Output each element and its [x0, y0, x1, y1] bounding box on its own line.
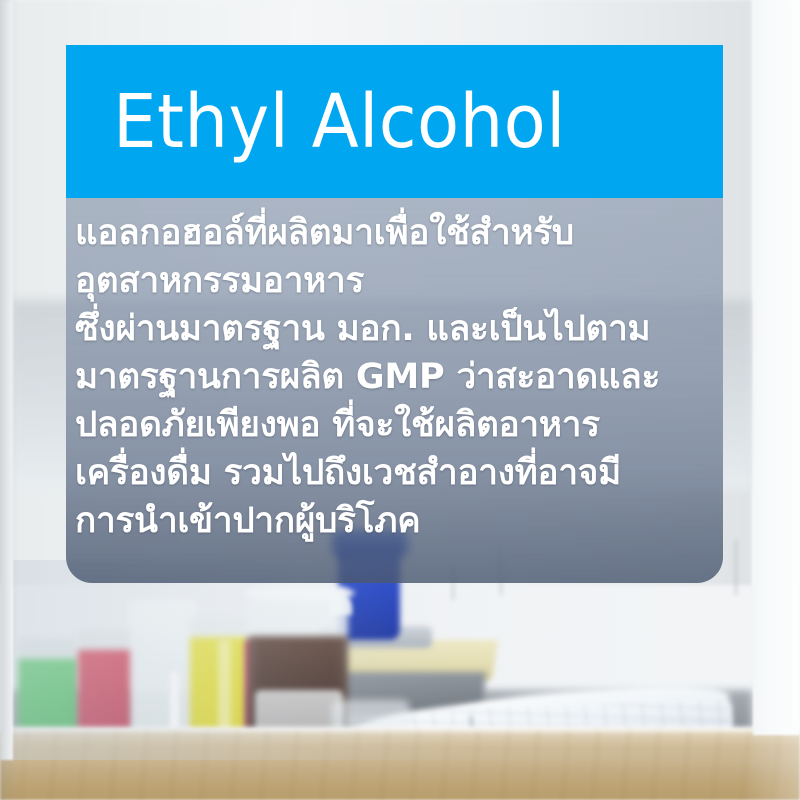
description-line: แอลกอฮอล์ที่ผลิตมาเพื่อใช้สำหรับ: [75, 209, 723, 257]
content-card: Ethyl Alcohol แอลกอฮอล์ที่ผลิตมาเพื่อใช้…: [66, 45, 723, 583]
description-line: ปลอดภัยเพียงพอ ที่จะใช้ผลิตอาหาร: [75, 401, 723, 449]
cabinet-seam-line: [735, 540, 737, 595]
title-banner: Ethyl Alcohol: [66, 45, 723, 198]
wood-grain: [0, 728, 800, 800]
description-line: มาตรฐานการผลิต GMP ว่าสะอาดและ: [75, 353, 723, 401]
description-line: การนำเข้าปากผู้บริโภค: [75, 497, 723, 545]
table-edge: [0, 726, 800, 733]
photo-frame-left: [0, 0, 13, 760]
description-line: อุตสาหกรรมอาหาร: [75, 257, 723, 305]
page-title: Ethyl Alcohol: [113, 85, 566, 159]
description-line: ซึ่งผ่านมาตรฐาน มอก. และเป็นไปตาม: [75, 305, 723, 353]
description-line: เครื่องดื่ม รวมไปถึงเวชสำอางที่อาจมี: [75, 449, 723, 497]
photo-frame-right: [753, 0, 800, 735]
poster-canvas: Ethyl Alcohol แอลกอฮอล์ที่ผลิตมาเพื่อใช้…: [0, 0, 800, 800]
description-panel: แอลกอฮอล์ที่ผลิตมาเพื่อใช้สำหรับ อุตสาหก…: [66, 198, 723, 583]
